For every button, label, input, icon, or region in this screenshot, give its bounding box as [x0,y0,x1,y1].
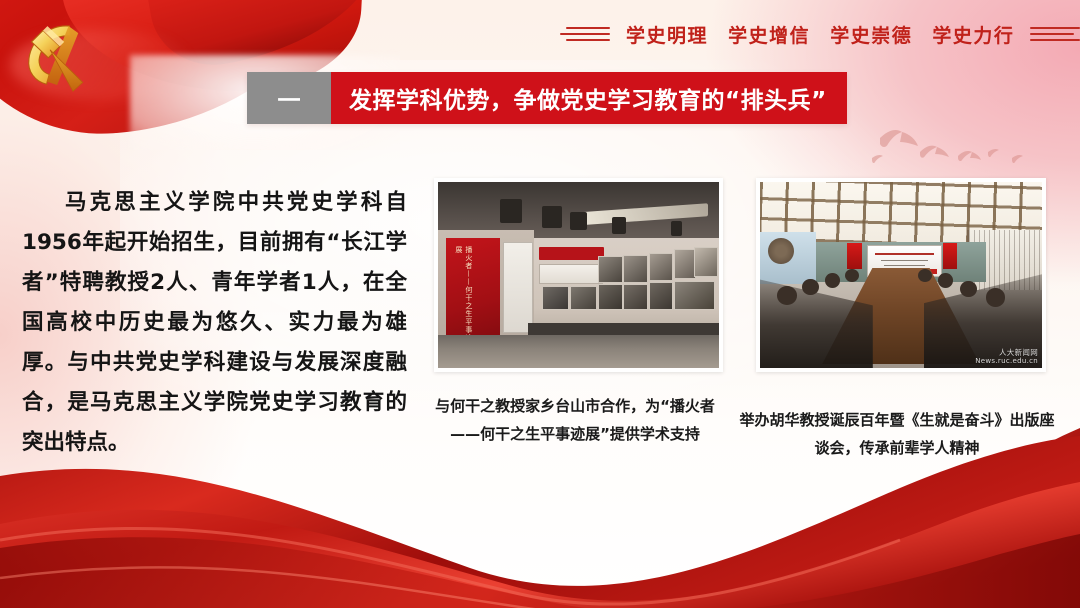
slogan-rule-left-icon [560,27,610,41]
slogan-phrase-3: 学史崇德 [830,25,912,47]
body-paragraph: 马克思主义学院中共党史学科自1956年起开始招生，目前拥有“长江学者”特聘教授2… [22,183,407,463]
presentation-slide: 学史明理 学史增信 学史崇德 学史力行 一 发挥学科优势，争做党史学习教育的“排… [0,0,1080,608]
doves-icon [862,122,1052,182]
section-heading: 发挥学科优势，争做党史学习教育的“排头兵” [331,72,847,124]
photo-watermark: 人大新闻网 News.ruc.edu.cn [975,348,1038,366]
slogan-phrase-4: 学史力行 [932,25,1014,47]
exhibition-panel-text: 播火者——何干之生平事迹展 [454,246,474,345]
header-slogan: 学史明理 学史增信 学史崇德 学史力行 [560,14,1070,54]
section-number: 一 [247,72,331,124]
watermark-cn: 人大新闻网 [975,348,1038,357]
bottom-wave-decoration [0,428,1080,608]
symposium-conference-photo: 人大新闻网 News.ruc.edu.cn [756,178,1046,372]
watermark-en: News.ruc.edu.cn [975,357,1038,366]
slogan-phrase-2: 学史增信 [728,25,810,47]
cpc-party-emblem-icon [14,10,102,102]
slogan-text: 学史明理 学史增信 学史崇德 学史力行 [620,21,1020,48]
exhibition-hall-photo: 播火者——何干之生平事迹展 [434,178,723,372]
slogan-phrase-1: 学史明理 [626,25,708,47]
section-title-bar: 一 发挥学科优势，争做党史学习教育的“排头兵” [247,72,847,124]
slogan-rule-right-icon [1030,27,1080,41]
